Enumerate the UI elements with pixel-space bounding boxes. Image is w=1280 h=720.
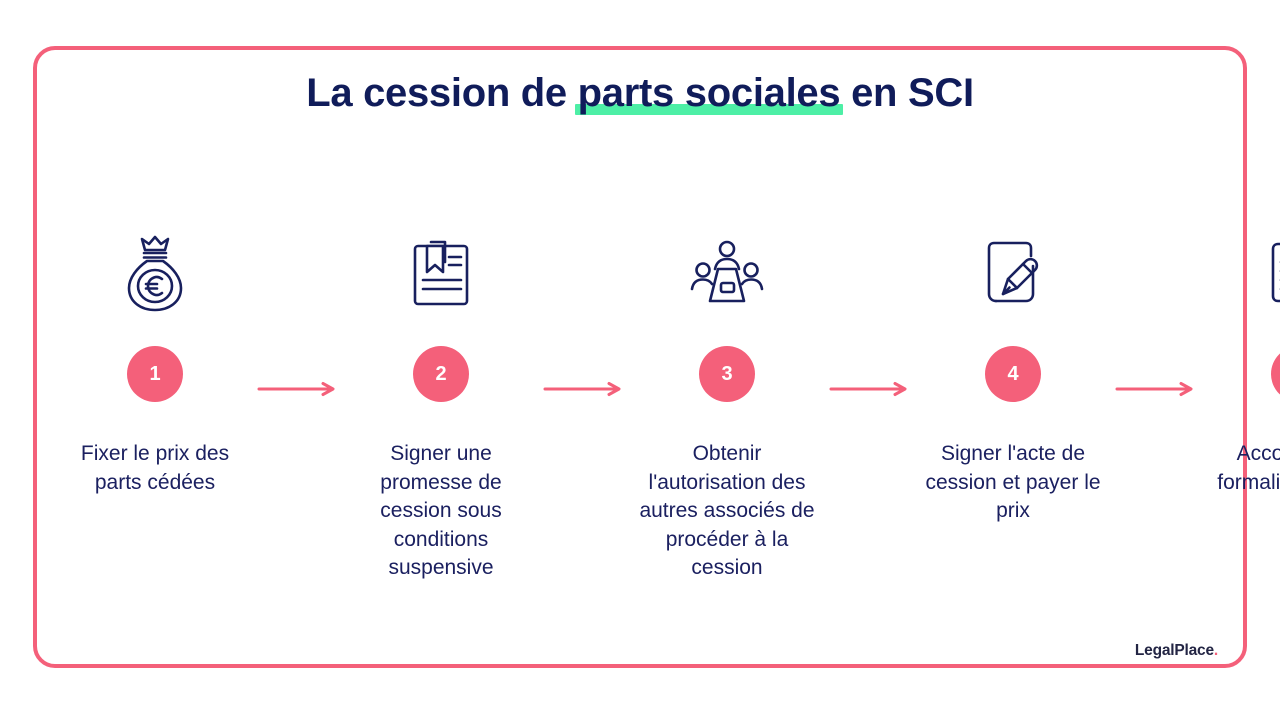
step-caption-4: Signer l'acte de cession et payer le pri… [918,440,1108,526]
step-caption-2: Signer une promesse de cession sous cond… [346,440,536,583]
logo-name: LegalPlace [1135,642,1214,659]
arrow-right-icon [536,381,632,397]
step-caption-3: Obtenir l'autorisation des autres associ… [632,440,822,583]
legalplace-logo: LegalPlace. [1135,643,1218,659]
step-4: 4 Signer l'acte de cession et payer le p… [918,230,1108,526]
step-3: 3 Obtenir l'autorisation des autres asso… [632,230,822,583]
step-caption-1: Fixer le prix des parts cédées [60,440,250,497]
step-badge-3: 3 [699,346,755,402]
meeting-people-table-icon [687,230,767,318]
step-badge-5: 5 [1271,346,1280,402]
step-badge-2: 2 [413,346,469,402]
arrow-right-icon [822,381,918,397]
steps-row: 1 Fixer le prix des parts cédées [60,230,1220,583]
title-highlight: parts sociales [578,70,841,116]
step-1: 1 Fixer le prix des parts cédées [60,230,250,497]
arrow-right-icon [250,381,346,397]
document-fountain-pen-icon [977,230,1049,318]
arrow-right-icon [1108,381,1204,397]
step-badge-4: 4 [985,346,1041,402]
slide-canvas: La cession de parts sociales en SCI 1 Fi… [0,0,1280,720]
document-bookmark-icon [405,230,477,318]
title-before: La cession de [306,71,577,115]
step-badge-1: 1 [127,346,183,402]
document-pencil-icon [1263,230,1280,318]
step-2: 2 Signer une promesse de cession sous co… [346,230,536,583]
page-title: La cession de parts sociales en SCI [0,70,1280,116]
title-after: en SCI [840,71,974,115]
logo-dot: . [1214,642,1218,659]
step-caption-5: Accomplir les formalités légales [1204,440,1280,497]
title-text: La cession de parts sociales en SCI [306,70,974,116]
money-bag-euro-icon [123,230,187,318]
step-5: 5 Accomplir les formalités légales [1204,230,1280,497]
